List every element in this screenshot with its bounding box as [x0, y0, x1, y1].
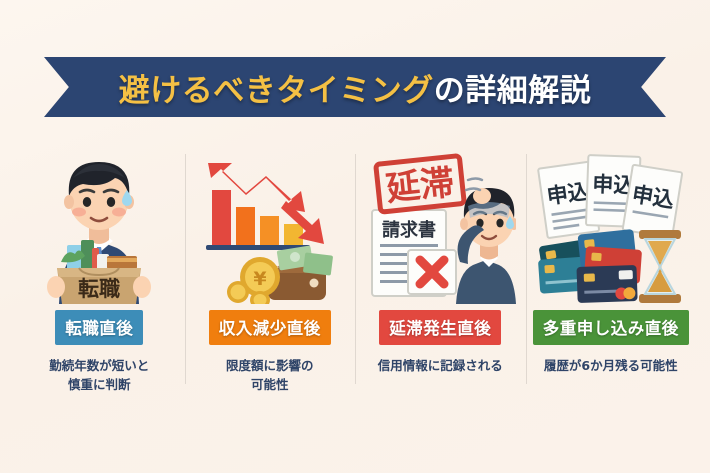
- card-label-job-change: 転職直後: [55, 310, 143, 345]
- card-caption-multiple-applications: 履歴が6か月残る可能性: [544, 356, 678, 375]
- invoice-title-text: 請求書: [382, 219, 436, 241]
- title-accent-text: 避けるべきタイミング: [119, 65, 434, 110]
- illustration-multiple-applications: 申込 申込 申込: [535, 144, 687, 304]
- page-title: 避けるべきタイミングの詳細解説: [44, 57, 666, 117]
- card-job-change: 転職 転職直後 勤続年数が短いと 慎重に判断: [14, 140, 185, 390]
- card-caption-overdue: 信用情報に記録される: [378, 356, 503, 375]
- illustration-income-drop: ¥: [194, 144, 346, 304]
- card-overdue: 請求書 延滞: [355, 140, 526, 390]
- illustration-job-change: 転職: [23, 144, 175, 304]
- illustration-overdue: 請求書 延滞: [364, 144, 516, 304]
- card-label-multiple-applications: 多重申し込み直後: [533, 310, 689, 345]
- title-plain-text: の詳細解説: [434, 65, 592, 110]
- box-label-text: 転職: [78, 277, 120, 301]
- card-caption-job-change: 勤続年数が短いと 慎重に判断: [49, 356, 149, 395]
- title-banner: 避けるべきタイミングの詳細解説: [44, 57, 666, 117]
- infographic-canvas: 避けるべきタイミングの詳細解説: [0, 0, 710, 473]
- coin-symbol-text: ¥: [253, 268, 266, 290]
- card-label-overdue: 延滞発生直後: [379, 310, 501, 345]
- stamp-text: 延滞: [385, 162, 457, 209]
- card-multiple-applications: 申込 申込 申込: [526, 140, 697, 390]
- card-caption-income-drop: 限度額に影響の 可能性: [226, 356, 314, 395]
- card-row: 転職 転職直後 勤続年数が短いと 慎重に判断: [14, 140, 696, 390]
- card-income-drop: ¥ 収入減少直後 限度額に影響の 可能性: [185, 140, 356, 390]
- card-label-income-drop: 収入減少直後: [209, 310, 331, 345]
